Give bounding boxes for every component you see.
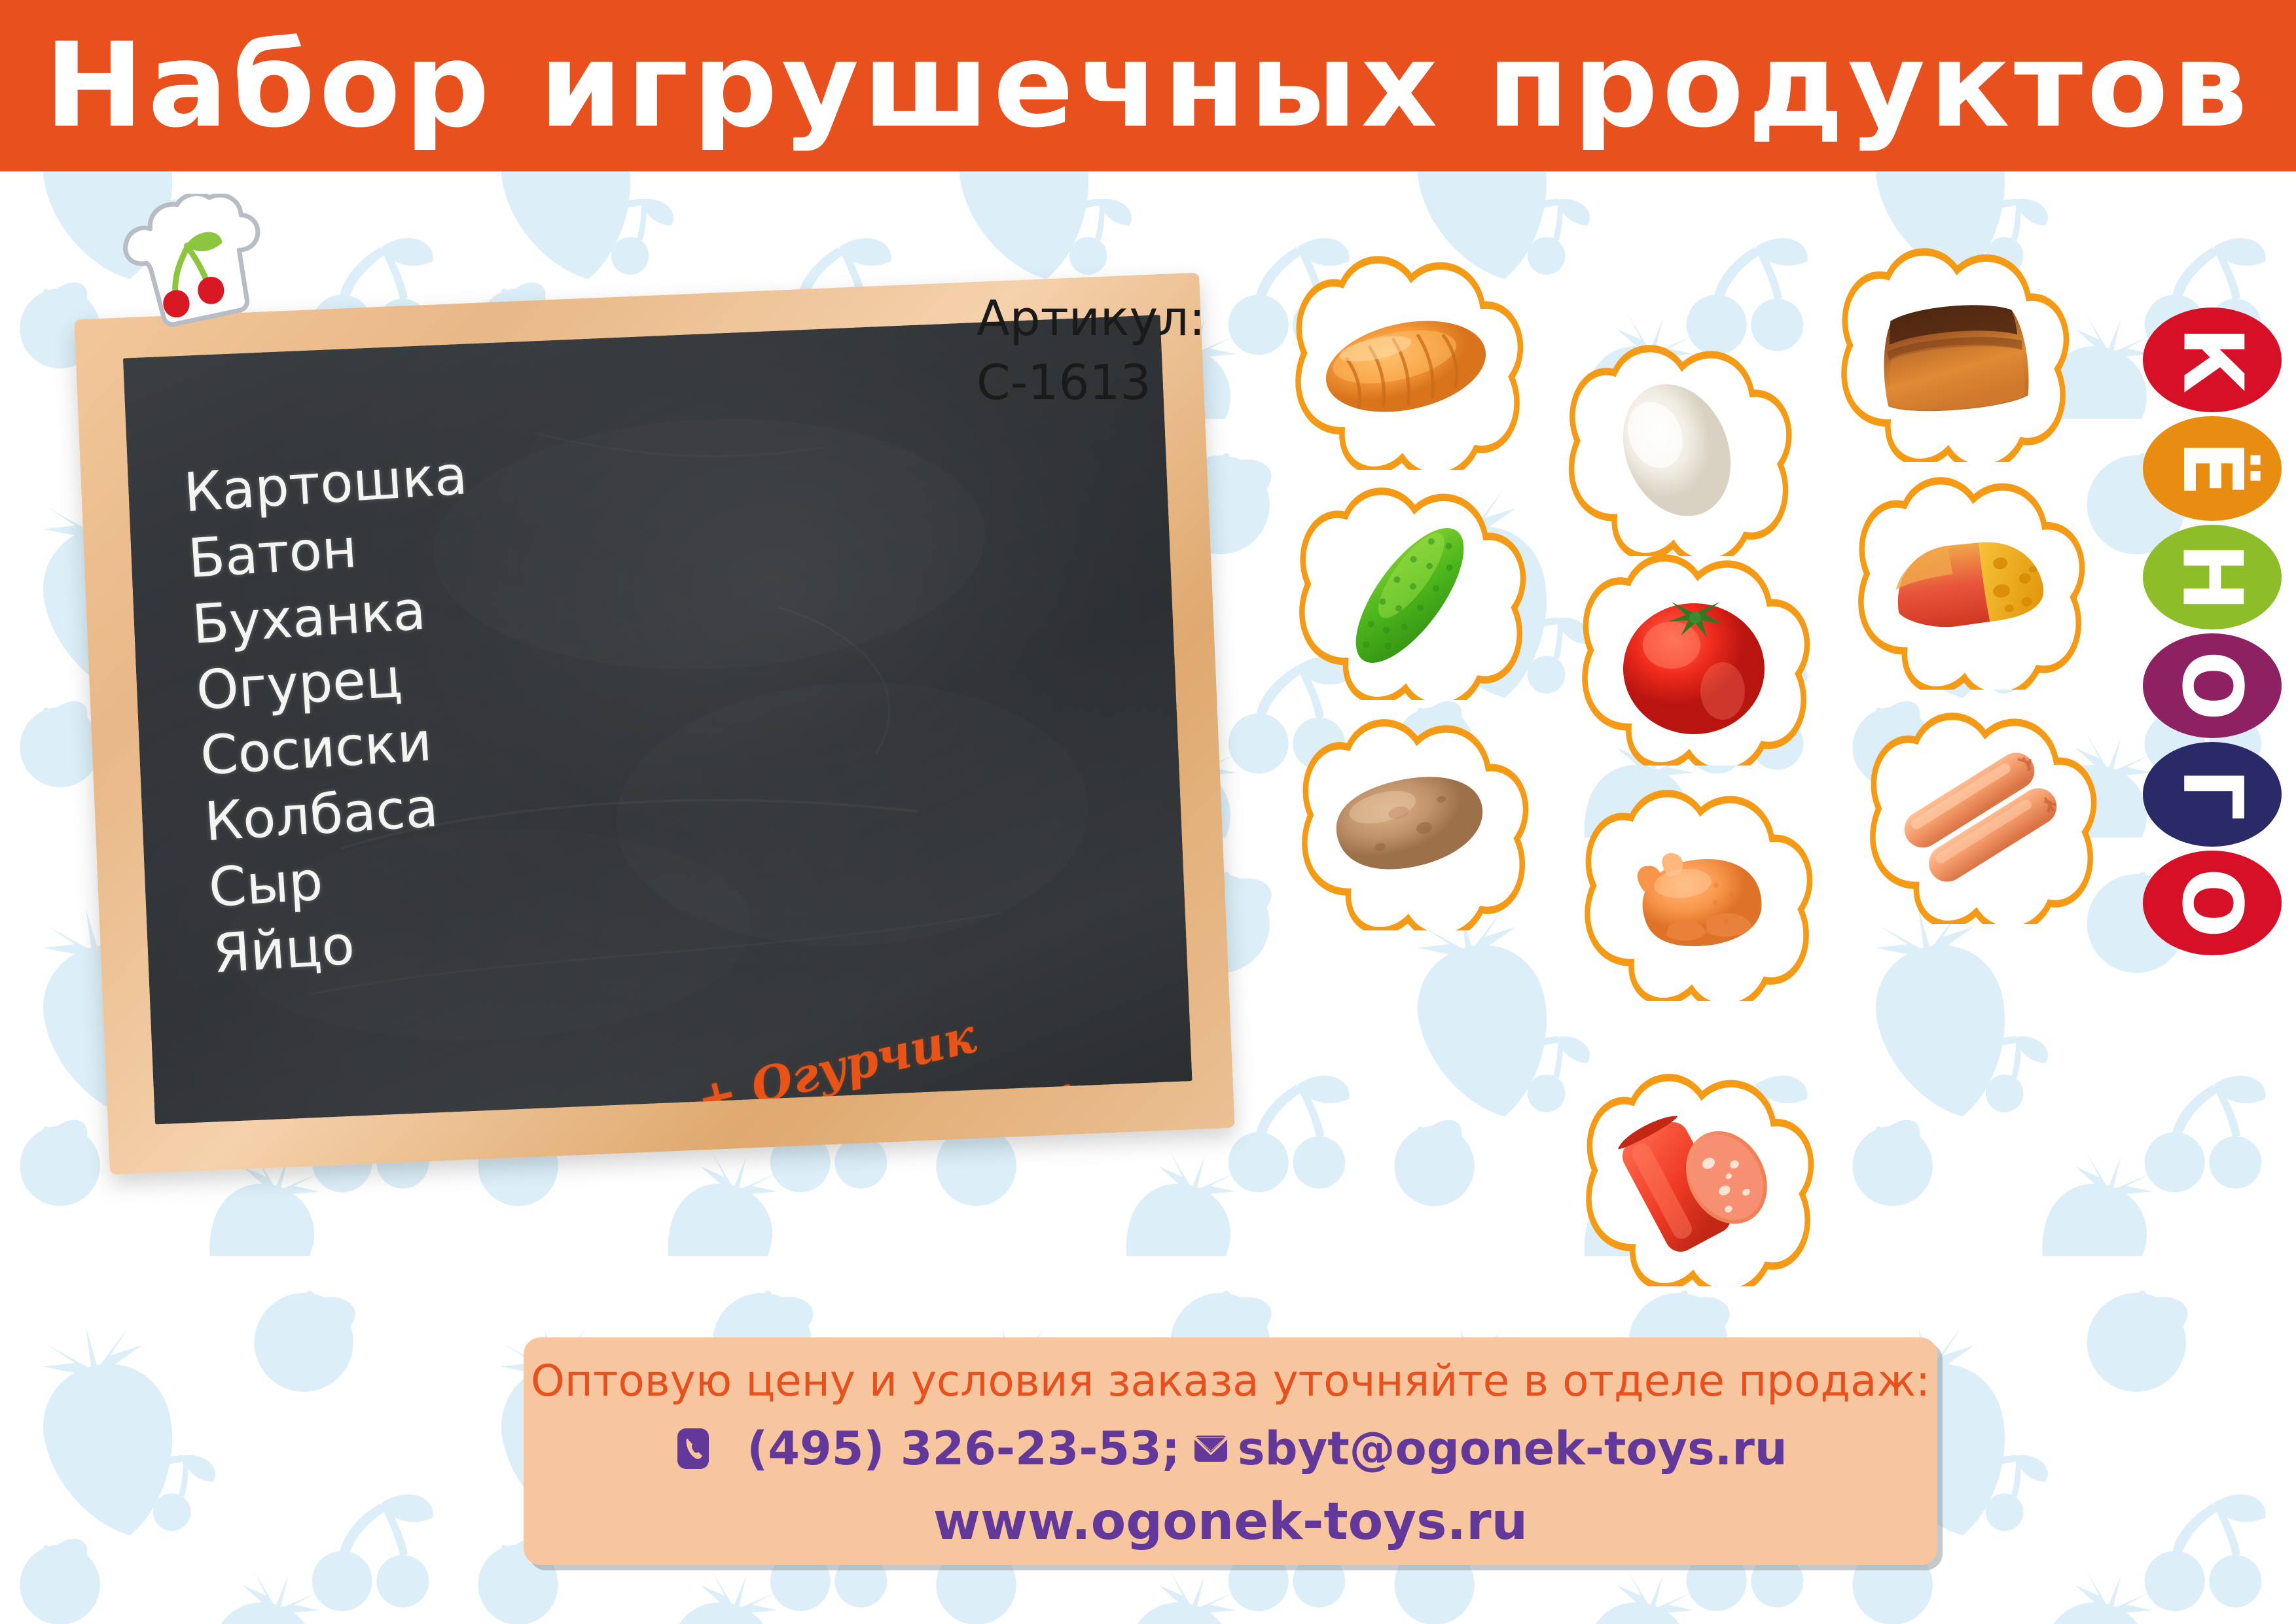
phone-number[interactable]: (495) 326-23-53;: [747, 1422, 1180, 1475]
logo-letter-yo: Ё: [2143, 416, 2282, 521]
product-bubble-cheese[interactable]: [1847, 472, 2093, 690]
contact-headline: Оптовую цену и условия заказа уточняйте …: [531, 1356, 1930, 1406]
product-bubble-potato[interactable]: [1291, 715, 1537, 930]
logo-glyph: Ё: [2171, 440, 2253, 497]
email-address[interactable]: sbyt@ogonek-toys.ru: [1238, 1422, 1787, 1475]
product-bubble-sausages[interactable]: [1859, 708, 2105, 924]
logo-glyph: О: [2171, 868, 2253, 938]
logo-letter-k: К: [2143, 308, 2282, 412]
product-bubble-tomato[interactable]: [1571, 550, 1818, 766]
logo-glyph: Г: [2171, 768, 2253, 821]
logo-glyph: К: [2171, 327, 2253, 394]
logo-letter-g: Г: [2143, 742, 2282, 847]
contact-card: Оптовую цену и условия заказа уточняйте …: [524, 1337, 1937, 1565]
brand-logo-ogonek: К Ё Н О Г О: [2143, 308, 2282, 959]
logo-glyph: О: [2171, 650, 2253, 720]
envelope-icon[interactable]: [1191, 1429, 1231, 1468]
product-bubble-buhanka[interactable]: [1830, 243, 2077, 462]
logo-glyph: Н: [2171, 542, 2253, 611]
product-bubble-salami[interactable]: [1575, 1069, 1822, 1286]
product-bubble-cucumber[interactable]: [1288, 483, 1534, 700]
website-url[interactable]: www.ogonek-toys.ru: [933, 1492, 1528, 1551]
product-bubble-chicken[interactable]: [1573, 785, 1821, 1001]
logo-letter-n: Н: [2143, 525, 2282, 629]
product-bubble-egg[interactable]: [1558, 340, 1800, 556]
logo-letter-o-2: О: [2143, 851, 2282, 955]
chef-hat-with-cherries-icon: [122, 194, 274, 332]
logo-letter-o-1: О: [2143, 633, 2282, 738]
phone-icon[interactable]: [673, 1424, 713, 1473]
product-bubble-baton[interactable]: [1284, 251, 1532, 470]
contact-row: (495) 326-23-53; sbyt@ogonek-toys.ru: [673, 1422, 1787, 1475]
